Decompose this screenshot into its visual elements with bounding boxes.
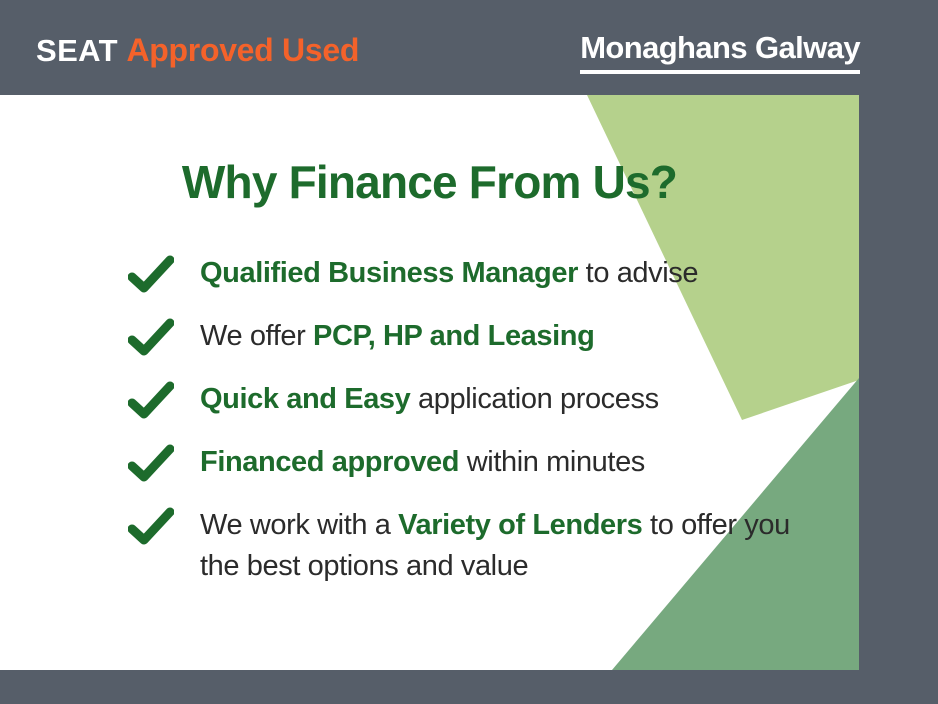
list-item-trailing: to advise [578,257,698,289]
page-title: Why Finance From Us? [0,155,859,209]
list-item: Financed approved within minutes [128,442,828,505]
check-icon [128,318,174,358]
check-icon [128,444,174,484]
benefits-list: Qualified Business Manager to advise We … [128,253,828,587]
list-item-leading: We work with a [200,509,398,541]
brand-lockup: SEAT Approved Used [36,30,359,71]
footer-background-strip [0,670,938,704]
list-item-text: Qualified Business Manager to advise [200,253,828,294]
list-item-text: Financed approved within minutes [200,442,828,483]
slide-root: SEAT Approved Used Monaghans Galway Why … [0,0,938,704]
list-item-emphasis: Qualified Business Manager [200,257,578,289]
list-item-text: We work with a Variety of Lenders to off… [200,505,800,587]
header-bar: SEAT Approved Used Monaghans Galway [0,0,938,95]
list-item-emphasis: PCP, HP and Leasing [313,320,594,352]
list-item-emphasis: Variety of Lenders [398,509,642,541]
list-item-emphasis: Quick and Easy [200,383,410,415]
brand-name-seat: SEAT [36,33,118,68]
right-background-strip [859,95,938,670]
list-item: We offer PCP, HP and Leasing [128,316,828,379]
dealer-name: Monaghans Galway [580,28,860,74]
check-icon [128,255,174,295]
list-item-trailing: within minutes [459,446,645,478]
list-item-leading: We offer [200,320,313,352]
content-panel: Why Finance From Us? Qualified Business … [0,95,859,670]
brand-tagline-approved-used: Approved Used [126,32,359,68]
list-item-trailing: application process [410,383,658,415]
list-item-text: Quick and Easy application process [200,379,828,420]
check-icon [128,507,174,547]
list-item: Qualified Business Manager to advise [128,253,828,316]
list-item: We work with a Variety of Lenders to off… [128,505,828,587]
list-item-text: We offer PCP, HP and Leasing [200,316,828,357]
list-item: Quick and Easy application process [128,379,828,442]
list-item-emphasis: Financed approved [200,446,459,478]
check-icon [128,381,174,421]
